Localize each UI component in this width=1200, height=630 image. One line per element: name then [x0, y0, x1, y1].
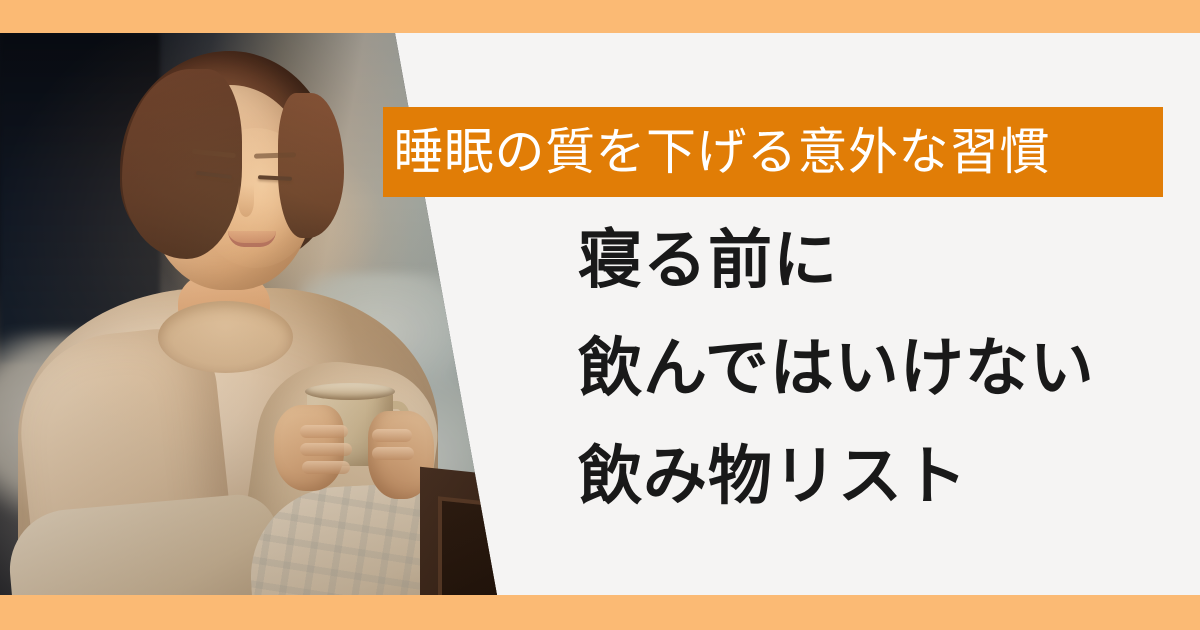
hair-side [278, 93, 344, 238]
banner-canvas: 睡眠の質を下げる意外な習慣 寝る前に 飲んではいけない 飲み物リスト [0, 0, 1200, 630]
sweater-collar [158, 301, 293, 373]
eyebrow-banner: 睡眠の質を下げる意外な習慣 [383, 107, 1163, 197]
nightstand-panel [438, 496, 510, 595]
finger [300, 425, 348, 438]
eyebrow-banner-label: 睡眠の質を下げる意外な習慣 [394, 127, 1051, 177]
finger [302, 461, 350, 474]
headline-line-2: 飲んではいけない [578, 336, 1095, 400]
headline-line-3: 飲み物リスト [578, 444, 1095, 508]
page-title: 寝る前に 飲んではいけない 飲み物リスト [578, 228, 1095, 508]
hair-front [122, 69, 242, 259]
mug-rim [305, 383, 395, 400]
frame-bar-top [0, 0, 1200, 33]
finger [300, 443, 352, 456]
frame-bar-bottom [0, 595, 1200, 630]
headline-line-1: 寝る前に [578, 228, 1095, 292]
finger [372, 429, 412, 442]
nose [238, 185, 254, 217]
finger [372, 447, 414, 460]
